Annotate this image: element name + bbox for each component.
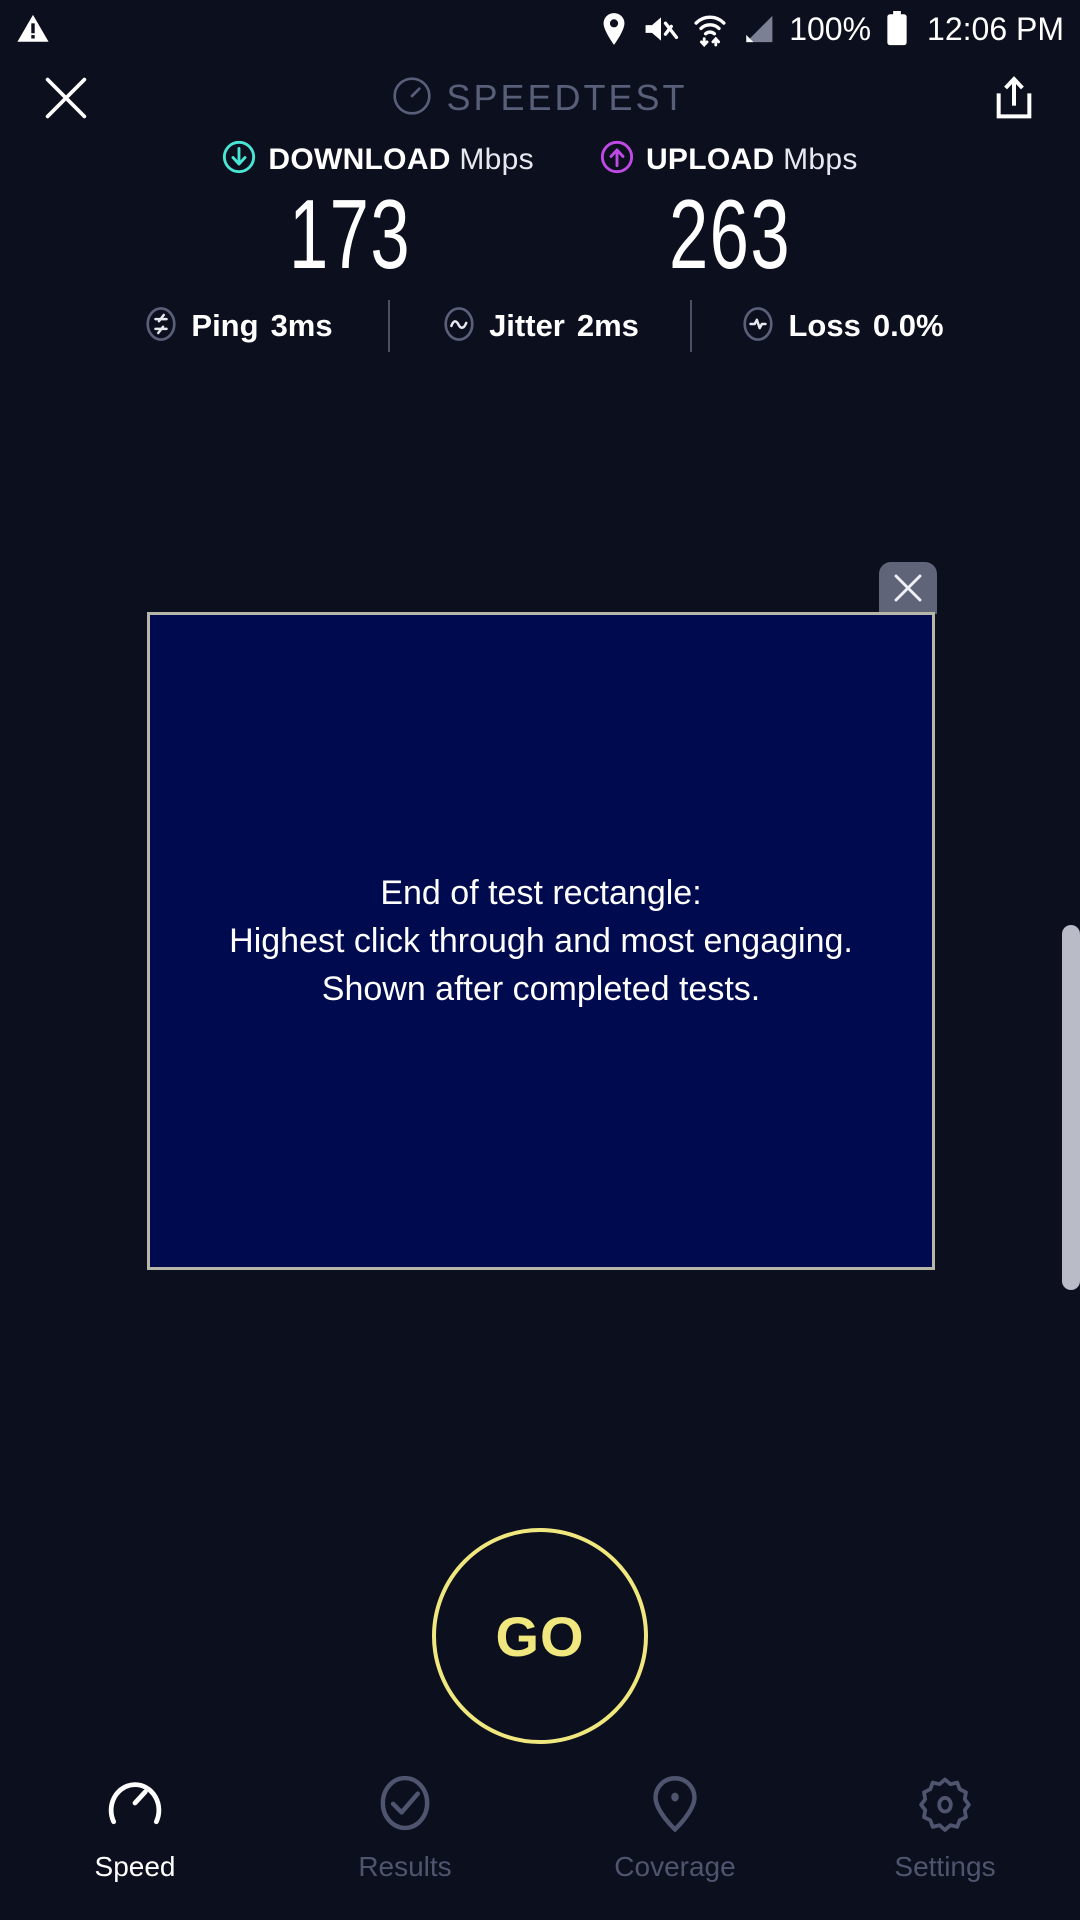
wifi-icon [693, 11, 727, 47]
metric-labels-row: DOWNLOAD Mbps UPLOAD Mbps [0, 140, 1080, 179]
location-pin-icon [646, 1774, 704, 1837]
close-button[interactable] [40, 72, 92, 124]
ping-icon [143, 306, 179, 347]
nav-label-settings: Settings [894, 1851, 995, 1883]
download-caption: DOWNLOAD Mbps [268, 143, 534, 177]
vertical-scrollbar[interactable] [1062, 925, 1080, 1290]
app-bar: SPEEDTEST [0, 58, 1080, 138]
close-icon [892, 572, 924, 604]
share-icon [992, 75, 1036, 121]
result-metrics: DOWNLOAD Mbps UPLOAD Mbps 173 263 [0, 140, 1080, 283]
nav-label-coverage: Coverage [614, 1851, 735, 1883]
warning-triangle-icon [16, 12, 50, 46]
stat-jitter-label: Jitter [489, 308, 565, 344]
stat-loss-label: Loss [788, 308, 860, 344]
status-bar-right: 100% 12:06 PM [599, 11, 1064, 48]
nav-label-results: Results [358, 1851, 451, 1883]
download-label: DOWNLOAD Mbps [222, 140, 534, 179]
gear-icon [916, 1774, 974, 1837]
nav-item-speed[interactable]: Speed [0, 1774, 270, 1883]
cell-signal-icon [741, 13, 775, 45]
bottom-navigation: Speed Results Coverage [0, 1760, 1080, 1920]
stat-jitter-value: 2ms [577, 308, 639, 344]
ad-text: End of test rectangle: Highest click thr… [229, 869, 853, 1013]
jitter-icon [441, 306, 477, 347]
stat-loss: Loss 0.0% [692, 306, 992, 347]
connection-stats-row: Ping 3ms Jitter 2ms Loss 0.0% [0, 300, 1080, 352]
stat-ping: Ping 3ms [88, 306, 388, 347]
brand-title: SPEEDTEST [446, 77, 687, 119]
battery-percent-label: 100% [789, 11, 871, 48]
download-arrow-icon [222, 140, 256, 179]
nav-item-settings[interactable]: Settings [810, 1774, 1080, 1883]
upload-value: 263 [593, 185, 867, 283]
upload-label: UPLOAD Mbps [600, 140, 858, 179]
check-circle-icon [376, 1774, 434, 1837]
status-bar: 100% 12:06 PM [0, 0, 1080, 58]
upload-arrow-icon [600, 140, 634, 179]
stat-ping-label: Ping [191, 308, 258, 344]
loss-icon [740, 306, 776, 347]
ad-close-button[interactable] [879, 562, 937, 614]
brand: SPEEDTEST [0, 76, 1080, 121]
go-button[interactable]: GO [432, 1528, 648, 1744]
stat-ping-value: 3ms [271, 308, 333, 344]
stat-loss-value: 0.0% [873, 308, 944, 344]
advertisement-banner[interactable]: End of test rectangle: Highest click thr… [147, 612, 935, 1270]
nav-label-speed: Speed [95, 1851, 176, 1883]
upload-caption: UPLOAD Mbps [646, 143, 858, 177]
scrollbar-thumb[interactable] [1062, 925, 1080, 1290]
mute-icon [643, 13, 679, 45]
share-button[interactable] [988, 72, 1040, 124]
speedometer-icon [392, 76, 432, 121]
battery-full-icon [885, 11, 909, 47]
location-pin-icon [599, 12, 629, 46]
close-icon [43, 75, 89, 121]
download-value: 173 [213, 185, 487, 283]
speedometer-icon [106, 1774, 164, 1837]
metric-values-row: 173 263 [0, 185, 1080, 283]
status-bar-left [16, 12, 50, 46]
speedtest-app-screen: 100% 12:06 PM SPEEDTEST [0, 0, 1080, 1920]
stat-jitter: Jitter 2ms [390, 306, 690, 347]
status-bar-clock: 12:06 PM [927, 11, 1064, 48]
nav-item-coverage[interactable]: Coverage [540, 1774, 810, 1883]
nav-item-results[interactable]: Results [270, 1774, 540, 1883]
go-button-label: GO [495, 1604, 584, 1669]
